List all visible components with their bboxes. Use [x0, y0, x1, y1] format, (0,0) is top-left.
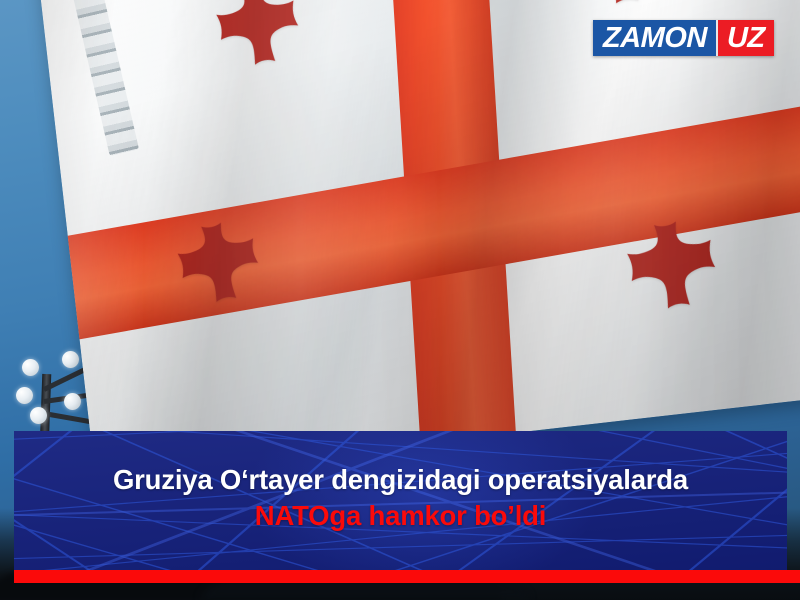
street-lamp-globe-1 — [22, 359, 39, 376]
street-lamp-globe-2 — [62, 351, 79, 368]
accent-red-bar — [14, 570, 800, 583]
street-lamp-globe-6 — [64, 393, 81, 410]
georgian-flag — [37, 0, 800, 481]
headline-banner: Gruziya O‘rtayer dengizidagi operatsiyal… — [14, 431, 787, 570]
logo-word-uz: UZ — [727, 24, 765, 53]
logo-secondary-block: UZ — [718, 20, 774, 56]
logo-word-zamon: ZAMON — [603, 24, 707, 53]
flag-fold-highlights — [37, 0, 800, 481]
zamon-uz-logo[interactable]: ZAMON UZ — [593, 20, 774, 56]
headline-line-1: Gruziya O‘rtayer dengizidagi operatsiyal… — [28, 465, 773, 496]
headline-line-2: NATOga hamkor bo’ldi — [28, 501, 773, 532]
street-lamp-globe-7 — [30, 407, 47, 424]
news-cover-card: ZAMON UZ — [0, 0, 800, 600]
logo-primary-block: ZAMON — [593, 20, 716, 56]
street-lamp-globe-5 — [16, 387, 33, 404]
headline-text-block: Gruziya O‘rtayer dengizidagi operatsiyal… — [14, 465, 787, 532]
